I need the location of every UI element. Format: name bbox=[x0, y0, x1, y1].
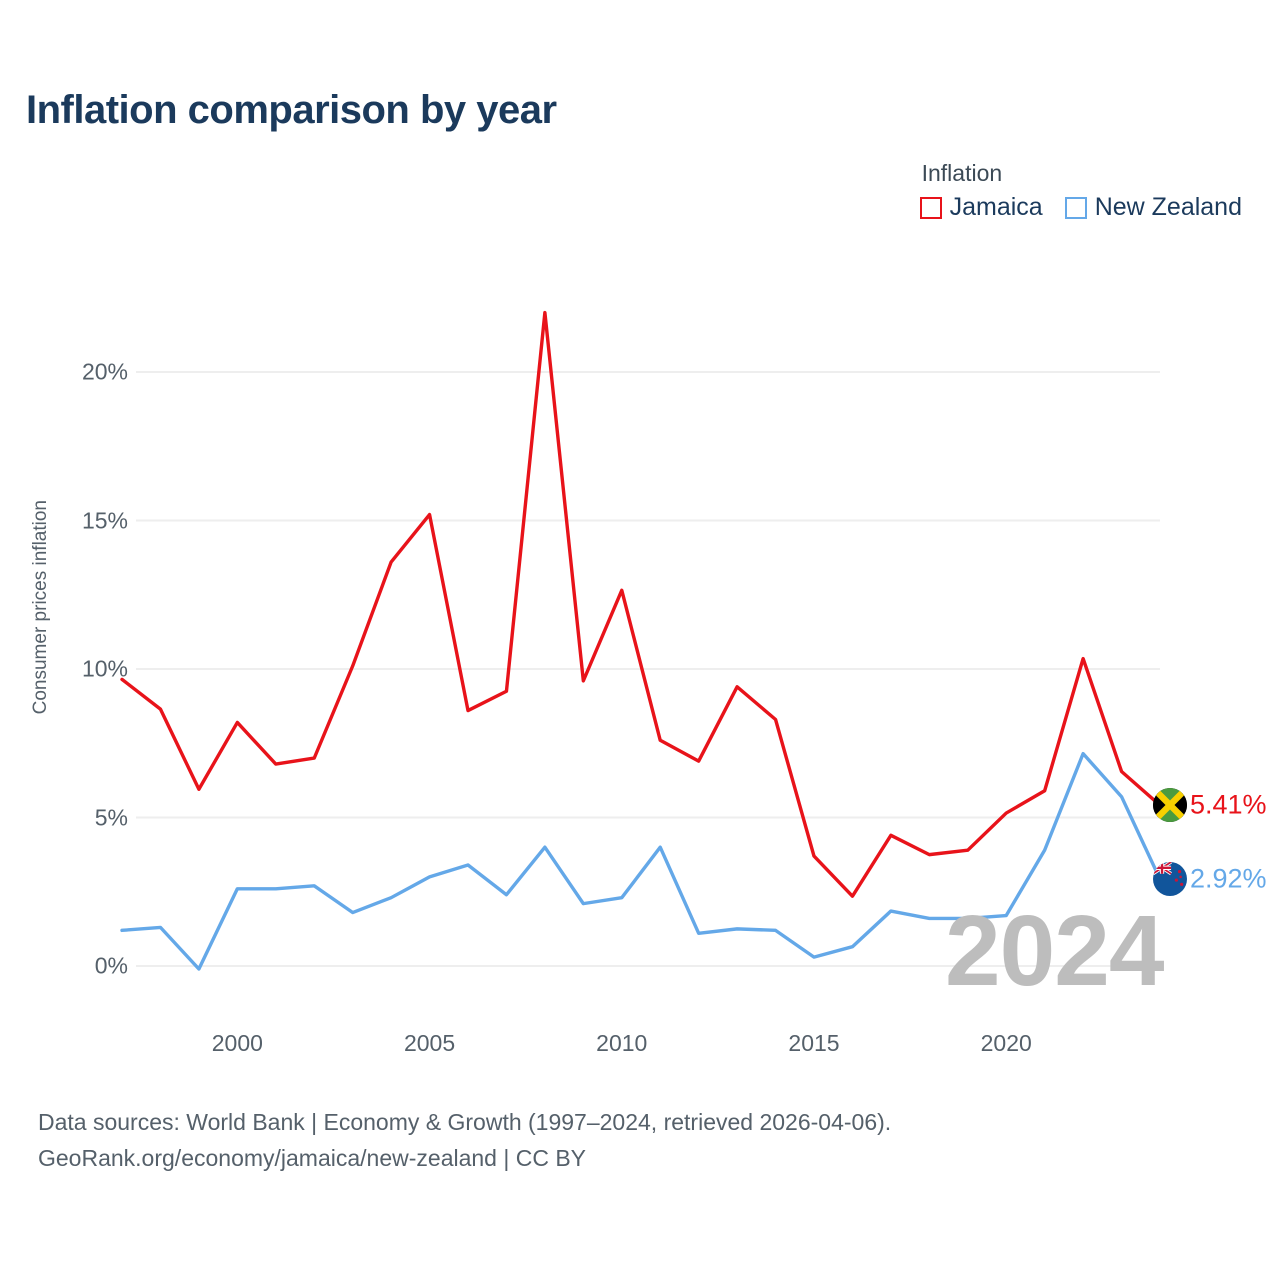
end-value-label: 5.41% bbox=[1190, 790, 1267, 821]
line-chart-plot bbox=[0, 0, 1280, 1280]
new-zealand-flag-icon bbox=[1153, 862, 1187, 896]
footer-line-2: GeoRank.org/economy/jamaica/new-zealand … bbox=[38, 1141, 891, 1177]
series-line bbox=[122, 313, 1160, 897]
jamaica-flag-icon bbox=[1153, 788, 1187, 822]
footer: Data sources: World Bank | Economy & Gro… bbox=[38, 1105, 891, 1176]
series-lines bbox=[122, 313, 1160, 969]
year-watermark: 2024 bbox=[945, 894, 1163, 1009]
end-value-label: 2.92% bbox=[1190, 864, 1267, 895]
footer-line-1: Data sources: World Bank | Economy & Gro… bbox=[38, 1105, 891, 1141]
gridlines bbox=[136, 372, 1160, 966]
